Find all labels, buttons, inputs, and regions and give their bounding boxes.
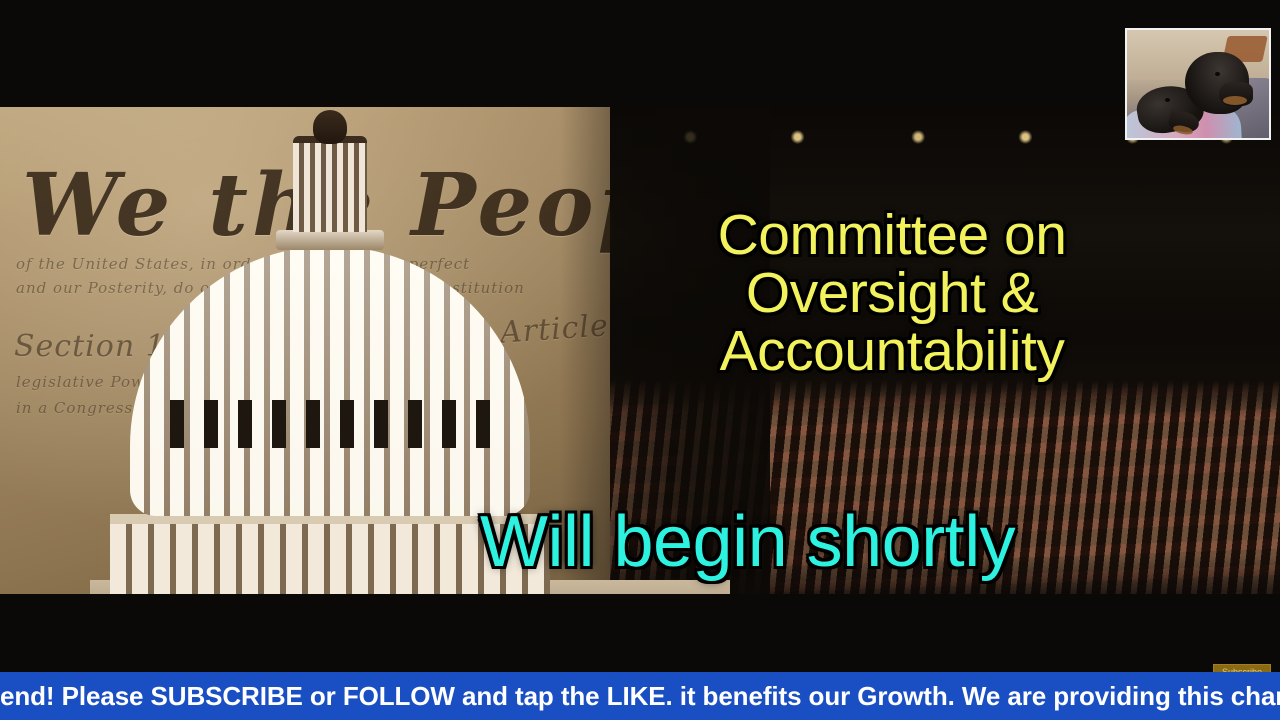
bottom-letterbox-bar: [0, 594, 1280, 672]
livestream-screen: We the People of the United States, in o…: [0, 0, 1280, 720]
promo-ticker-banner[interactable]: end! Please SUBSCRIBE or FOLLOW and tap …: [0, 672, 1280, 720]
dog-right-tan-marking: [1223, 96, 1247, 105]
subscribe-button[interactable]: Subscribe: [1213, 664, 1271, 672]
video-player-surface[interactable]: We the People of the United States, in o…: [0, 0, 1280, 672]
promo-ticker-text: end! Please SUBSCRIBE or FOLLOW and tap …: [0, 681, 1280, 712]
dome-windows: [160, 400, 500, 448]
dome-body: [130, 246, 530, 516]
dome-lantern-base: [276, 230, 384, 250]
will-begin-shortly-caption: Will begin shortly: [480, 506, 1280, 579]
committee-title-caption: Committee on Oversight & Accountability: [612, 206, 1172, 380]
top-letterbox-bar: [0, 0, 1280, 107]
webcam-pip-overlay[interactable]: [1125, 28, 1271, 140]
statue-of-freedom-icon: [313, 110, 347, 144]
dome-lantern: [293, 136, 367, 232]
dog-left-eye: [1165, 98, 1170, 102]
dog-right-eye: [1215, 72, 1220, 76]
pip-scene: [1127, 30, 1269, 138]
